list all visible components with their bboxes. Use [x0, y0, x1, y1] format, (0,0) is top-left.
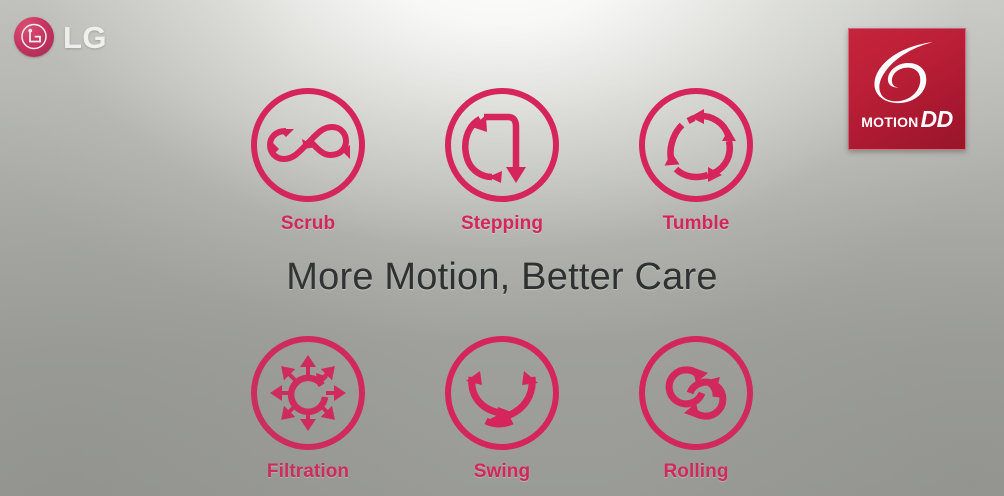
motion-label: Scrub — [281, 213, 335, 235]
triangular-loop-arrows-icon — [636, 85, 756, 205]
motion-row-top: Scrub Stepping — [0, 85, 1004, 235]
lg-face-icon — [21, 23, 47, 50]
motion-item-scrub[interactable]: Scrub — [248, 85, 368, 235]
motion-label: Tumble — [663, 213, 730, 235]
infinity-arrows-icon — [248, 85, 368, 205]
motion-item-stepping[interactable]: Stepping — [442, 85, 562, 235]
double-circular-arrows-icon — [636, 333, 756, 453]
motion-item-filtration[interactable]: Filtration — [248, 333, 368, 483]
lg-logo-icon — [14, 17, 54, 57]
page-title: More Motion, Better Care — [0, 256, 1004, 299]
motion-item-rolling[interactable]: Rolling — [636, 333, 756, 483]
slide-canvas: LG MOTION DD — [0, 0, 1004, 496]
motion-item-tumble[interactable]: Tumble — [636, 85, 756, 235]
motion-label: Stepping — [461, 213, 543, 235]
motion-label: Filtration — [267, 461, 349, 483]
arc-and-down-arrow-icon — [442, 85, 562, 205]
lg-logo: LG — [14, 17, 107, 57]
motion-item-swing[interactable]: Swing — [442, 333, 562, 483]
pendulum-arrows-icon — [442, 333, 562, 453]
motion-label: Swing — [474, 461, 530, 483]
radiating-arrows-icon — [248, 333, 368, 453]
lg-logo-text: LG — [63, 22, 107, 53]
motion-label: Rolling — [663, 461, 728, 483]
motion-row-bottom: Filtration Swing — [0, 333, 1004, 483]
